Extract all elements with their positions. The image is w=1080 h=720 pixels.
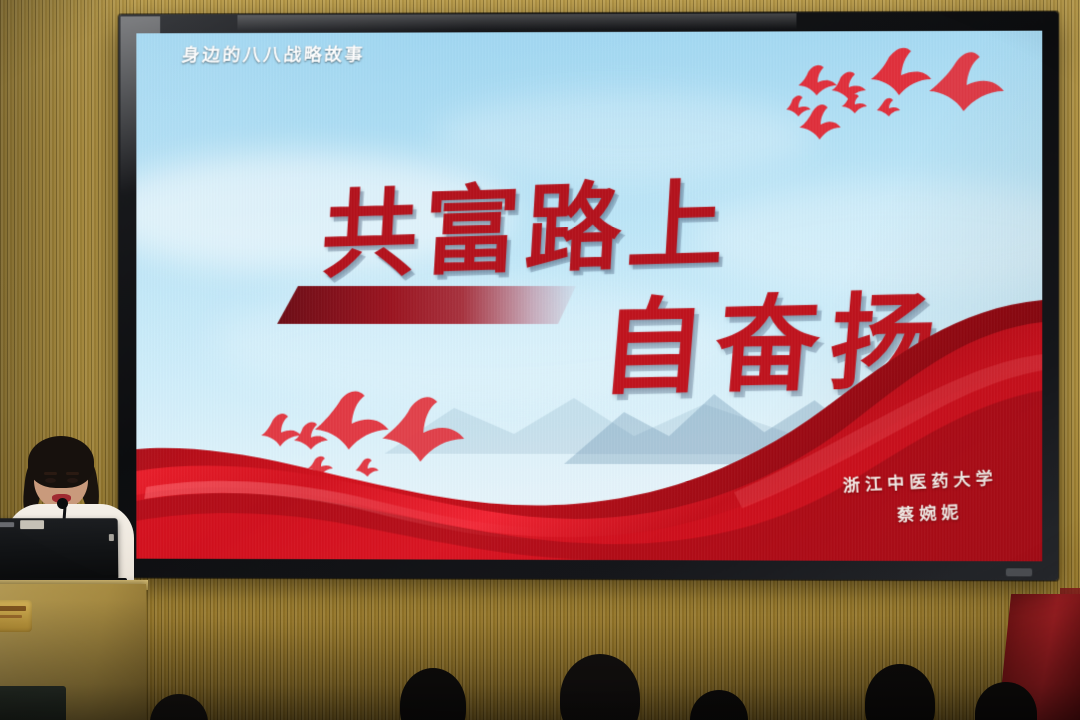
conference-room-photo: 共富路上 自奋扬 身边的八八战略故事 (0, 0, 1080, 720)
photo-vignette (0, 0, 1080, 720)
